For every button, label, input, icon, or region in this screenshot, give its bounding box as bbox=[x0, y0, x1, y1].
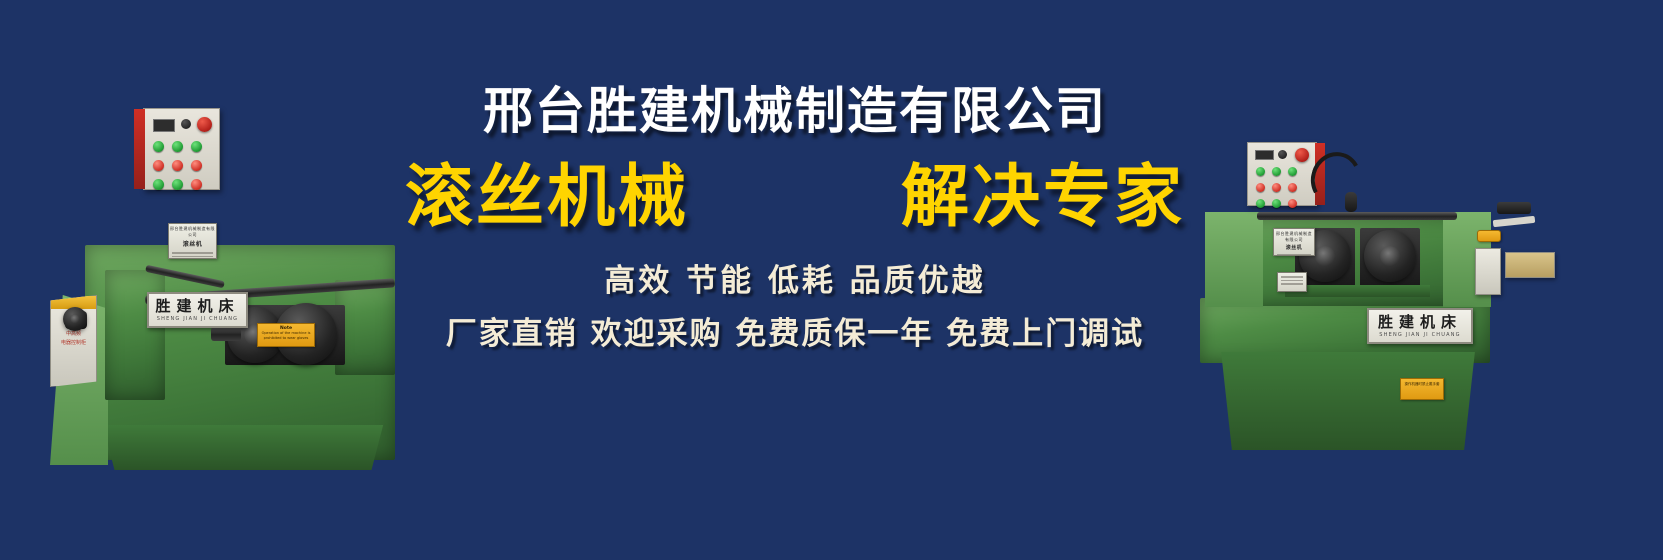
promo-banner: 邢台胜建机械制造有限公司 滚丝机 胜建机床 SHENG JIAN JI CHUA… bbox=[0, 0, 1663, 560]
machine-left-spec-plate: 邢台胜建机械制造有限公司 滚丝机 bbox=[168, 223, 217, 259]
machine-right-emergency-stop-icon[interactable] bbox=[1295, 148, 1309, 162]
warning-plate-text: Operation of the machine is prohibited t… bbox=[258, 331, 314, 342]
headline-left: 滚丝机械 bbox=[405, 164, 689, 232]
brand-name-pinyin: SHENG JIAN JI CHUANG bbox=[1379, 332, 1460, 338]
panel-button[interactable] bbox=[1272, 167, 1281, 176]
panel-button[interactable] bbox=[153, 141, 164, 152]
cabinet-label: 中高频 电器控制柜 bbox=[51, 330, 96, 348]
machine-left-headstock bbox=[105, 270, 165, 400]
machine-right-control-panel[interactable] bbox=[1247, 142, 1317, 206]
machine-right-brand-nameplate: 胜建机床 SHENG JIAN JI CHUANG bbox=[1367, 308, 1473, 344]
machine-right-side-unit bbox=[1475, 248, 1501, 295]
machine-right-warning-plate: 操作机器时禁止戴手套 bbox=[1400, 378, 1444, 400]
machine-left-panel-display bbox=[153, 119, 175, 132]
machine-right-left-housing bbox=[1205, 212, 1263, 307]
panel-button[interactable] bbox=[1272, 199, 1281, 208]
machine-right-roller-2 bbox=[1364, 230, 1416, 282]
panel-button[interactable] bbox=[153, 179, 164, 190]
machine-left-emergency-stop-icon[interactable] bbox=[197, 117, 212, 132]
banner-text-block: 邢台胜建机械制造有限公司 滚丝机械 解决专家 高效 节能 低耗 品质优越 厂家直… bbox=[395, 86, 1195, 426]
machine-right-panel-button-grid[interactable] bbox=[1256, 167, 1297, 208]
machine-left-brand-nameplate: 胜建机床 SHENG JIAN JI CHUANG bbox=[147, 292, 248, 328]
machine-right-feed-tube bbox=[1493, 216, 1536, 227]
panel-button[interactable] bbox=[172, 141, 183, 152]
machine-left-panel-selector-knob[interactable] bbox=[181, 119, 191, 129]
panel-button[interactable] bbox=[191, 179, 202, 190]
panel-button[interactable] bbox=[1256, 199, 1265, 208]
panel-button[interactable] bbox=[1256, 183, 1265, 192]
machine-right-gauge-plate bbox=[1505, 252, 1555, 278]
machine-left-warning-plate: Note Operation of the machine is prohibi… bbox=[257, 323, 315, 347]
company-name: 邢台胜建机械制造有限公司 bbox=[395, 86, 1195, 136]
panel-button[interactable] bbox=[191, 160, 202, 171]
machine-right-tie-bar bbox=[1257, 212, 1457, 220]
machine-right-spec-plate: 邢台胜建机械制造有限公司 滚丝机 bbox=[1273, 228, 1315, 256]
spec-plate-company: 邢台胜建机械制造有限公司 bbox=[169, 226, 216, 238]
machine-right-panel-selector-knob[interactable] bbox=[1278, 150, 1287, 159]
panel-button[interactable] bbox=[172, 160, 183, 171]
panel-button[interactable] bbox=[1288, 167, 1297, 176]
headline-row: 滚丝机械 解决专家 bbox=[395, 164, 1195, 232]
machine-left-base-skirt bbox=[97, 425, 389, 470]
spec-plate-company: 邢台胜建机械制造有限公司 bbox=[1274, 231, 1314, 243]
panel-button[interactable] bbox=[153, 160, 164, 171]
machine-right-data-plate bbox=[1277, 272, 1307, 292]
machine-left-panel-button-grid[interactable] bbox=[153, 141, 202, 190]
panel-button[interactable] bbox=[1288, 199, 1297, 208]
brand-name-cn: 胜建机床 bbox=[155, 299, 239, 314]
subtitle-line-2: 厂家直销 欢迎采购 免费质保一年 免费上门调试 bbox=[395, 319, 1195, 350]
subtitle-line-1: 高效 节能 低耗 品质优越 bbox=[395, 266, 1195, 297]
machine-left-panel-red-side bbox=[134, 109, 145, 189]
machine-right-hose-end bbox=[1345, 192, 1357, 212]
brand-name-pinyin: SHENG JIAN JI CHUANG bbox=[157, 316, 238, 322]
brand-name-cn: 胜建机床 bbox=[1378, 315, 1462, 330]
panel-button[interactable] bbox=[1256, 167, 1265, 176]
warning-plate-text: 操作机器时禁止戴手套 bbox=[1401, 382, 1443, 387]
machine-right-orange-connector bbox=[1477, 230, 1501, 242]
thread-rolling-machine-right-image: 邢台胜建机械制造有限公司 滚丝机 胜建机床 SHENG JIAN JI CHUA… bbox=[1175, 130, 1555, 450]
thread-rolling-machine-left-image: 邢台胜建机械制造有限公司 滚丝机 胜建机床 SHENG JIAN JI CHUA… bbox=[35, 95, 395, 470]
panel-button[interactable] bbox=[172, 179, 183, 190]
machine-left-control-panel[interactable] bbox=[143, 108, 220, 190]
panel-button[interactable] bbox=[1288, 183, 1297, 192]
machine-left-side-pulley bbox=[63, 307, 87, 331]
spec-plate-model: 滚丝机 bbox=[1274, 244, 1314, 251]
panel-button[interactable] bbox=[191, 141, 202, 152]
spec-plate-model: 滚丝机 bbox=[169, 239, 216, 248]
headline-right: 解决专家 bbox=[901, 164, 1185, 232]
machine-right-pedestal bbox=[1213, 352, 1483, 450]
panel-button[interactable] bbox=[1272, 183, 1281, 192]
machine-right-feed-head bbox=[1497, 202, 1531, 214]
machine-right-panel-display bbox=[1255, 150, 1274, 160]
machine-left-roller-shaft bbox=[211, 327, 241, 341]
